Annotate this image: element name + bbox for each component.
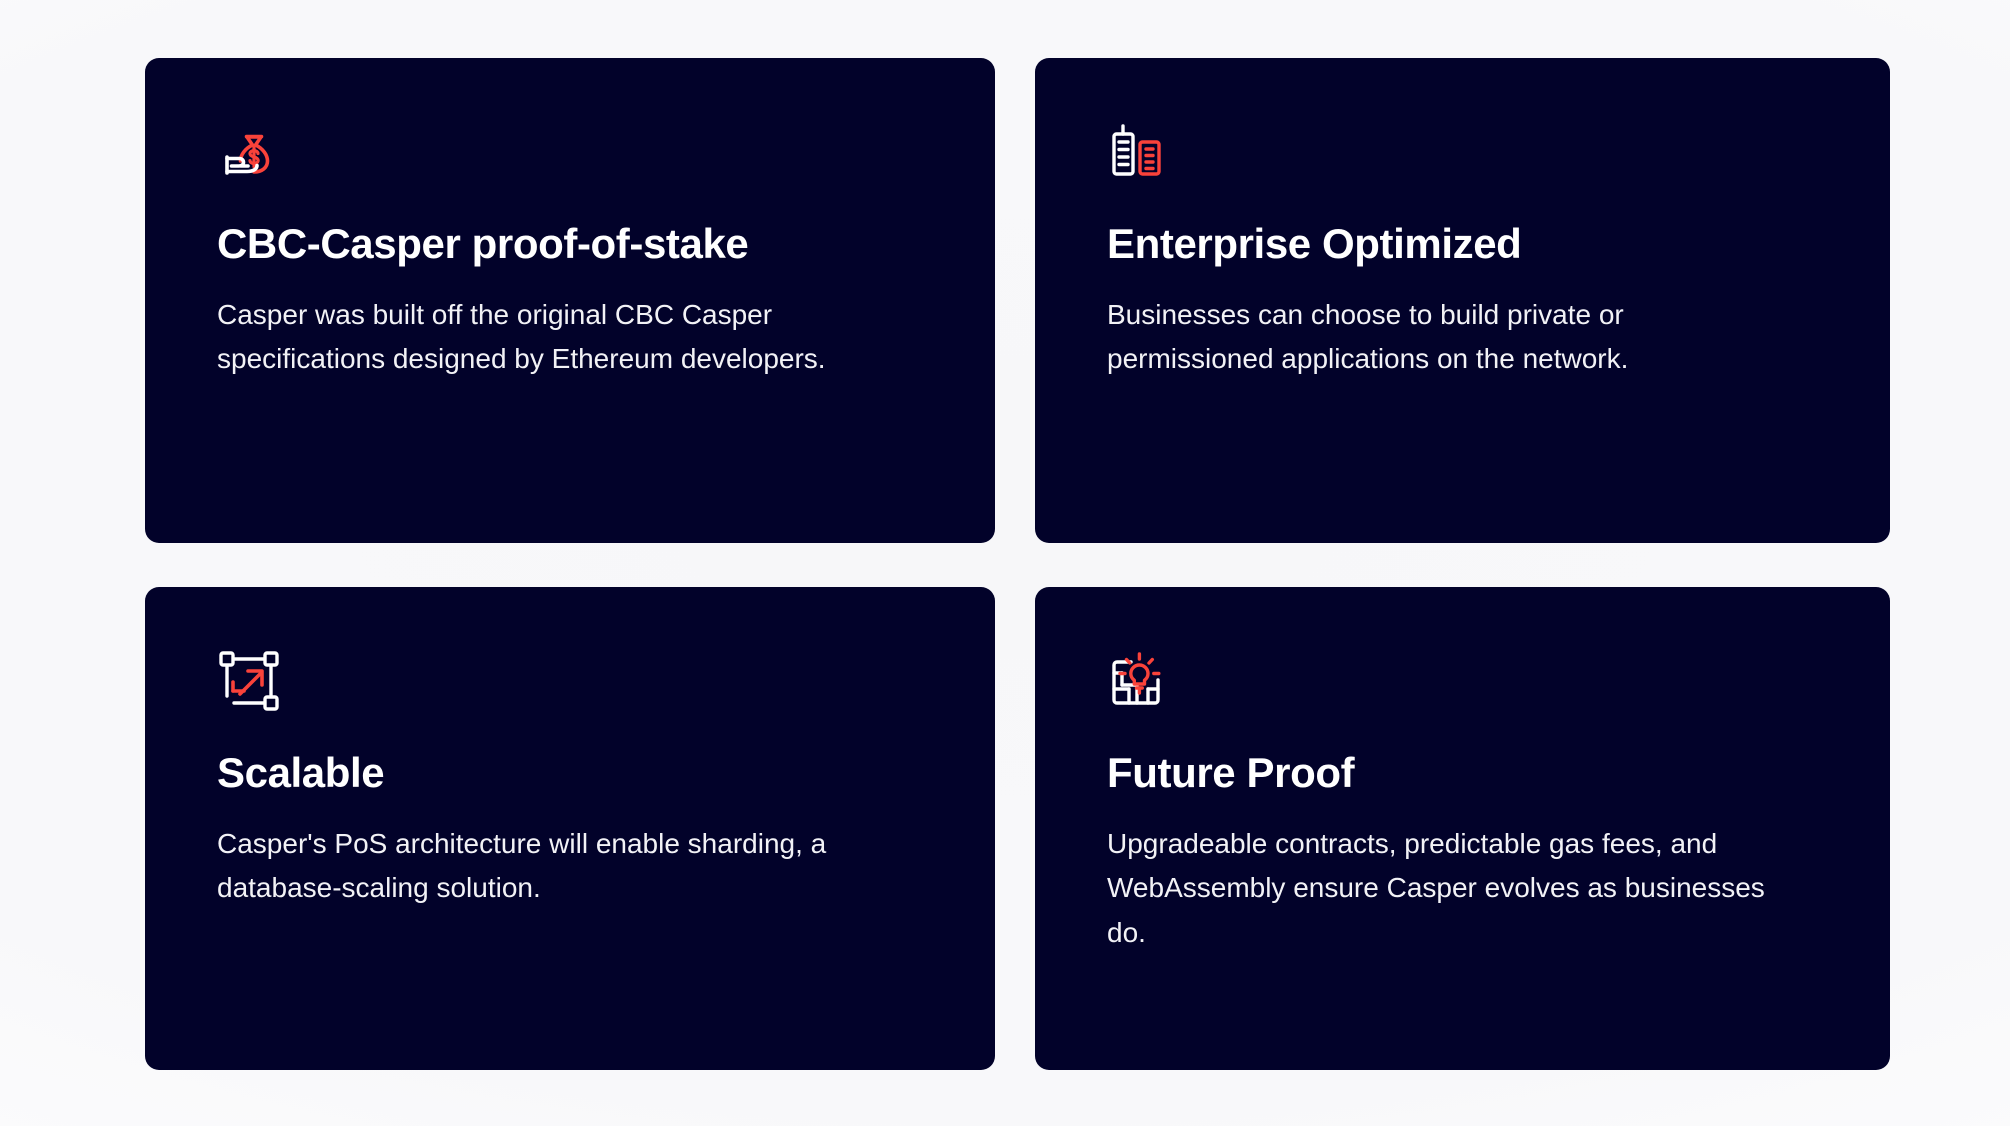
feature-card-future-proof[interactable]: Future Proof Upgradeable contracts, pred… (1035, 587, 1890, 1070)
card-description: Businesses can choose to build private o… (1107, 293, 1767, 381)
scale-resize-arrow-icon (217, 649, 281, 713)
blueprint-lightbulb-icon (1107, 649, 1171, 713)
card-description: Upgradeable contracts, predictable gas f… (1107, 822, 1797, 955)
money-bag-in-hand-icon (217, 120, 281, 184)
features-page: CBC-Casper proof-of-stake Casper was bui… (0, 0, 2010, 1126)
card-description: Casper's PoS architecture will enable sh… (217, 822, 877, 910)
feature-card-enterprise-optimized[interactable]: Enterprise Optimized Businesses can choo… (1035, 58, 1890, 543)
card-description: Casper was built off the original CBC Ca… (217, 293, 877, 381)
feature-card-cbc-casper[interactable]: CBC-Casper proof-of-stake Casper was bui… (145, 58, 995, 543)
office-buildings-icon (1107, 120, 1171, 184)
card-title: Future Proof (1107, 749, 1818, 796)
feature-card-grid: CBC-Casper proof-of-stake Casper was bui… (145, 58, 1890, 1070)
card-title: Scalable (217, 749, 923, 796)
feature-card-scalable[interactable]: Scalable Casper's PoS architecture will … (145, 587, 995, 1070)
card-title: CBC-Casper proof-of-stake (217, 220, 923, 267)
card-title: Enterprise Optimized (1107, 220, 1818, 267)
